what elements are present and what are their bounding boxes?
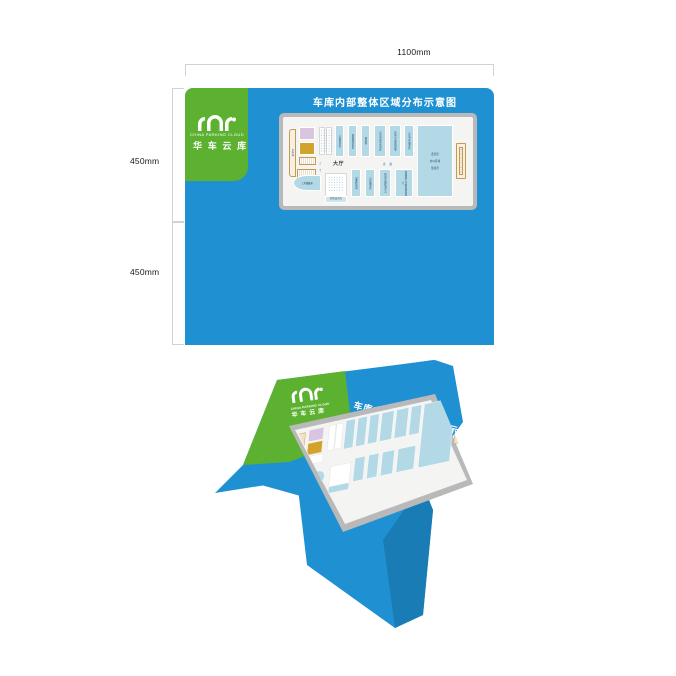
room-restroom-label: 卫生间 bbox=[290, 130, 295, 176]
stairs-up-label: 上 bbox=[319, 161, 321, 165]
dimension-bracket-horizontal bbox=[185, 64, 494, 76]
stairs-down-label: 下 bbox=[319, 168, 321, 172]
room-right-line-2: 办公区域 bbox=[430, 159, 440, 163]
dimension-bracket-vertical-bottom bbox=[172, 222, 184, 345]
room-dangerous-goods: 危险品仓库 bbox=[325, 196, 347, 203]
logo-chinese-text: 华 车 云 库 bbox=[193, 139, 241, 152]
floor-plan-frame: 卫生间 上 下 大厅 儿童游乐区 新能源充电区 休息室 公共电动车充电区 应急与… bbox=[279, 113, 477, 210]
hall-label: 大厅 bbox=[333, 160, 344, 167]
right-door bbox=[456, 143, 466, 179]
dot-grid-lower bbox=[328, 176, 344, 192]
dimension-height-bottom-label: 450mm bbox=[130, 267, 159, 277]
dimension-width-label: 1100mm bbox=[0, 47, 676, 57]
room-bottom-1: 设备检修间 bbox=[351, 169, 361, 197]
dimension-height-top-label: 450mm bbox=[130, 156, 159, 166]
room-right-block: 会议室 办公区域 值班室 bbox=[417, 125, 453, 197]
room-right-line-3: 值班室 bbox=[431, 166, 439, 170]
room-bottom-4: 新能源汽车维修保养部门 bbox=[395, 169, 413, 197]
logo: CHINA PARKING CLOUD 华 车 云 库 bbox=[193, 115, 241, 152]
room-lilac bbox=[299, 127, 315, 140]
stairs-upper bbox=[299, 157, 316, 165]
room-top-4: 公共电动车充电区 bbox=[374, 125, 386, 157]
dimension-bracket-vertical-top bbox=[172, 88, 184, 222]
mockup-svg: CHINA PARKING CLOUD 华 车 云 库 车库内部整体区域分布示意… bbox=[185, 360, 515, 650]
signage-panel-flat: CHINA PARKING CLOUD 华 车 云 库 车库内部整体区域分布示意… bbox=[185, 88, 494, 345]
room-tool-storage: 工具储藏室 bbox=[293, 175, 321, 191]
logo-latin-text: CHINA PARKING CLOUD bbox=[189, 132, 246, 137]
room-top-6: 公共卫生服务区 bbox=[404, 125, 414, 157]
dot-grid-upper bbox=[320, 129, 332, 153]
brand-green-block: CHINA PARKING CLOUD 华 车 云 库 bbox=[185, 88, 248, 181]
room-bottom-2: 公共服务区 bbox=[365, 169, 375, 197]
room-restroom: 卫生间 bbox=[289, 129, 296, 177]
corridor-label: 走 廊 bbox=[383, 162, 394, 166]
panel-title: 车库内部整体区域分布示意图 bbox=[285, 94, 485, 109]
signage-mockup-3d: CHINA PARKING CLOUD 华 车 云 库 车库内部整体区域分布示意… bbox=[185, 360, 515, 650]
room-gold bbox=[299, 142, 315, 155]
room-top-2: 新能源充电区 bbox=[348, 125, 357, 157]
room-top-3: 休息室 bbox=[361, 125, 370, 157]
parking-arch-logo-icon bbox=[196, 115, 238, 132]
room-right-line-1: 会议室 bbox=[431, 152, 439, 156]
room-top-1: 儿童游乐区 bbox=[335, 125, 344, 157]
floor-plan-canvas: 卫生间 上 下 大厅 儿童游乐区 新能源充电区 休息室 公共电动车充电区 应急与… bbox=[283, 117, 473, 206]
room-top-5: 应急与安保值班室 bbox=[389, 125, 401, 157]
room-bottom-3: 机动车辆检测中心 bbox=[379, 169, 391, 197]
